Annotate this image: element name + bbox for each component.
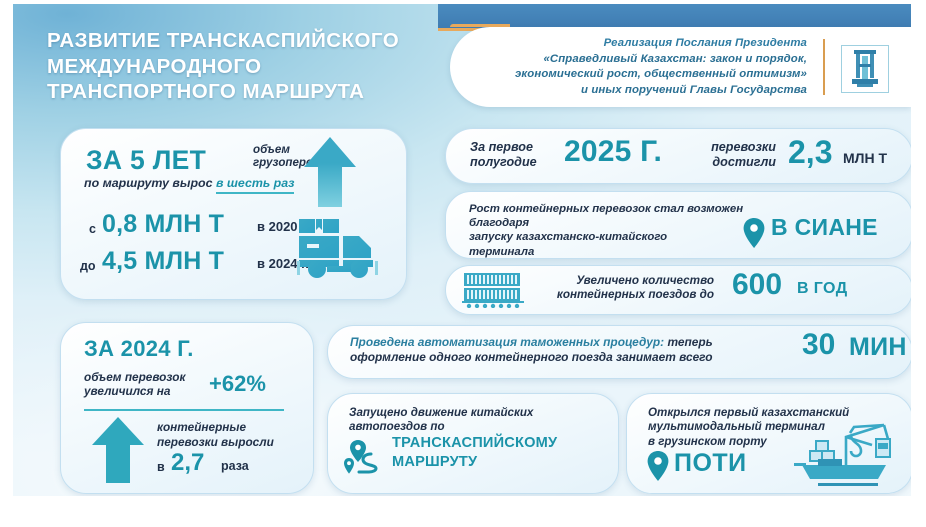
card-customs-automation: Проведена автоматизация таможенных проце… [327,325,911,379]
customs-line-1-highlight: Проведена автоматизация таможенных проце… [350,335,664,349]
customs-unit: МИН [849,333,907,362]
president-message-text: Реализация Послания Президента «Справедл… [477,36,807,98]
shipments-label: перевозки достигли [696,140,776,170]
trains-description: Увеличено количество контейнерных поездо… [534,274,714,303]
five-years-headline: ЗА 5 ЛЕТ [86,145,206,176]
xian-city-label: В СИАНЕ [771,214,878,241]
shipments-line-1: перевозки [696,140,776,155]
shipments-line-2: достигли [696,155,776,170]
banner-line-3: экономический рост, общественный оптимиз… [477,67,807,83]
trains-line-1: Увеличено количество [534,274,714,288]
shipments-value: 2,3 [788,134,832,171]
xian-description: Рост контейнерных перевозок стал возможе… [469,202,769,259]
map-pin-icon [743,218,765,253]
route-line-2: МАРШРУТУ [392,453,557,472]
from-value: 0,8 МЛН Т [102,210,224,239]
divider-line [84,409,284,411]
growth-multiplier-prefix: в [157,460,165,474]
five-years-growth-line: по маршруту вырос в шесть раз [84,176,294,190]
volume-line-2: увеличился на [84,384,185,398]
banner-line-1: Реализация Послания Президента [477,36,807,52]
shipments-unit: МЛН Т [843,150,887,166]
xian-line-2: запуску казахстанско-китайского [469,230,769,244]
first-half-line-1: За первое [470,140,537,155]
route-label: ТРАНСКАСПИЙСКОМУ МАРШРУТУ [392,434,557,472]
container-growth-line-2: перевозки выросли [157,435,274,450]
truck-cargo-icon [297,217,379,279]
card-five-years: ЗА 5 ЛЕТ объем грузоперевозок по маршрут… [60,128,407,300]
orange-accent-bar [450,24,510,27]
baiterek-monument-icon [841,45,889,93]
autotrains-line-1: Запущено движение китайских [349,406,599,420]
container-train-icon [462,272,524,308]
volume-label: объем перевозок увеличился на [84,370,185,399]
container-growth-label: контейнерные перевозки выросли [157,420,274,449]
route-pin-icon [344,438,390,476]
year-2025: 2025 Г. [564,135,662,169]
customs-line-1-rest: теперь [664,335,713,349]
card-2025-first-half: За первое полугодие 2025 Г. перевозки до… [445,128,911,184]
trains-unit: В ГОД [797,280,848,298]
growth-multiplier-value: 2,7 [171,449,204,477]
card-xian-terminal: Рост контейнерных перевозок стал возможе… [445,191,911,259]
growth-prefix: по маршруту вырос [84,176,213,190]
to-value: 4,5 МЛН Т [102,247,224,276]
infographic-root: РАЗВИТИЕ ТРАНСКАСПИЙСКОГО МЕЖДУНАРОДНОГО… [0,0,926,527]
route-line-1: ТРАНСКАСПИЙСКОМУ [392,434,557,453]
port-crane-ship-icon [788,419,904,489]
card-auto-trains-route: Запущено движение китайских автопоездов … [327,393,619,494]
volume-line-1: объем перевозок [84,370,185,384]
card-container-trains: Увеличено количество контейнерных поездо… [445,265,911,315]
customs-description: Проведена автоматизация таможенных проце… [350,335,790,364]
first-half-line-2: полугодие [470,155,537,170]
customs-value: 30 [802,328,835,362]
infographic-canvas: РАЗВИТИЕ ТРАНСКАСПИЙСКОГО МЕЖДУНАРОДНОГО… [13,4,911,496]
trains-value: 600 [732,268,782,302]
volume-percent: +62% [209,371,266,397]
card-2024-volume: ЗА 2024 Г. объем перевозок увеличился на… [60,322,314,494]
banner-line-2: «Справедливый Казахстан: закон и порядок… [477,52,807,68]
growth-highlight: в шесть раз [216,176,294,194]
map-pin-icon [647,451,669,486]
autotrains-description: Запущено движение китайских автопоездов … [349,406,599,435]
banner-line-4: и иных поручений Главы Государства [477,83,807,99]
xian-line-1: Рост контейнерных перевозок стал возможе… [469,202,769,230]
arrow-up-icon [92,417,144,483]
first-half-label: За первое полугодие [470,140,537,170]
from-prefix: с [89,222,96,236]
xian-line-3: терминала [469,245,769,259]
trains-line-2: контейнерных поездов до [534,288,714,302]
customs-line-1: Проведена автоматизация таможенных проце… [350,335,790,350]
customs-line-2: оформление одного контейнерного поезда з… [350,350,790,365]
page-title: РАЗВИТИЕ ТРАНСКАСПИЙСКОГО МЕЖДУНАРОДНОГО… [47,28,447,105]
year-2024-headline: ЗА 2024 Г. [84,336,194,362]
vertical-divider [823,39,825,95]
to-prefix: до [80,259,96,273]
growth-multiplier-suffix: раза [221,459,249,473]
arrow-up-icon [304,137,356,209]
poti-city-label: ПОТИ [674,449,747,478]
card-poti-terminal: Открылся первый казахстанский мультимода… [626,393,911,494]
container-growth-line-1: контейнерные [157,420,274,435]
president-message-card: Реализация Послания Президента «Справедл… [450,27,911,107]
autotrains-line-2: автопоездов по [349,420,599,434]
